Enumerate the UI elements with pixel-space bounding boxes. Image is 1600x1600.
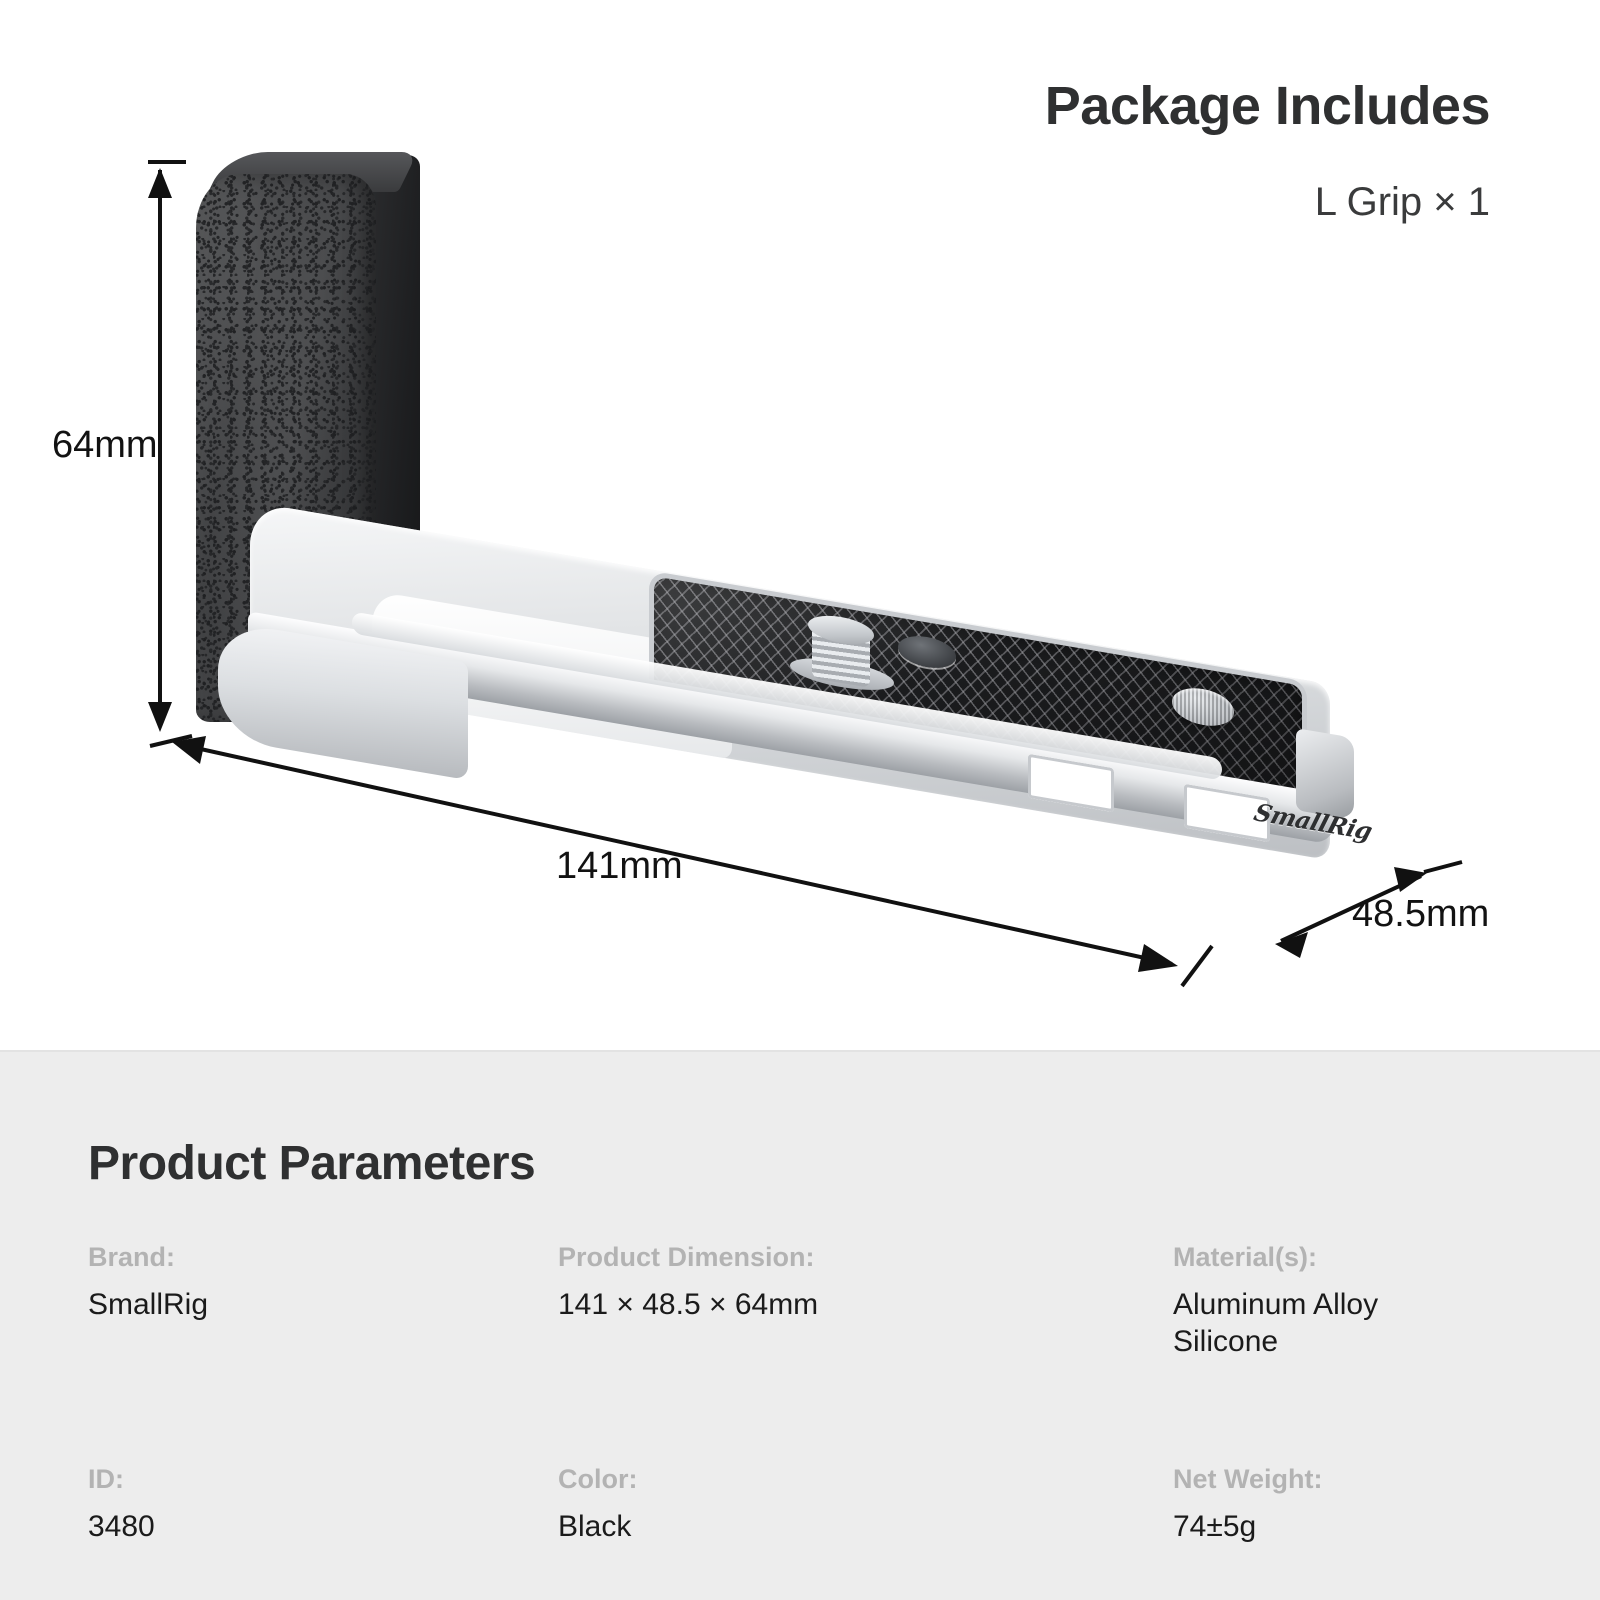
param-net-weight-key: Net Weight: xyxy=(1173,1464,1518,1495)
param-materials-value: Aluminum Alloy Silicone xyxy=(1173,1287,1518,1360)
param-id-value: 3480 xyxy=(88,1509,558,1546)
param-product-dimension-value: 141 × 48.5 × 64mm xyxy=(558,1287,1173,1324)
dimension-label-width: 48.5mm xyxy=(1352,893,1489,936)
parameters-row: ID: 3480 Color: Black Net Weight: 74±5g xyxy=(88,1464,1518,1546)
dimension-label-length: 141mm xyxy=(556,845,683,888)
param-brand-key: Brand: xyxy=(88,1242,558,1273)
param-id: ID: 3480 xyxy=(88,1464,558,1546)
dim-tick-length-end xyxy=(1182,946,1212,986)
param-product-dimension: Product Dimension: 141 × 48.5 × 64mm xyxy=(558,1242,1173,1360)
param-net-weight-value: 74±5g xyxy=(1173,1509,1518,1546)
dimension-label-height: 64mm xyxy=(52,424,158,467)
product-parameters-section: Product Parameters Brand: SmallRig Produ… xyxy=(0,1050,1600,1600)
param-color-key: Color: xyxy=(558,1464,1173,1495)
dim-arrow-down xyxy=(148,702,172,732)
param-net-weight: Net Weight: 74±5g xyxy=(1173,1464,1518,1546)
dim-arrow-up xyxy=(148,168,172,198)
product-image: SmallRig 64mm 141mm 48.5mm xyxy=(0,0,1600,1050)
param-product-dimension-key: Product Dimension: xyxy=(558,1242,1173,1273)
param-color: Color: Black xyxy=(558,1464,1173,1546)
product-parameters-title: Product Parameters xyxy=(88,1136,535,1191)
parameters-grid: Brand: SmallRig Product Dimension: 141 ×… xyxy=(88,1242,1518,1546)
param-id-key: ID: xyxy=(88,1464,558,1495)
dim-tick-width-end xyxy=(1424,862,1462,872)
param-color-value: Black xyxy=(558,1509,1173,1546)
package-includes-section: Package Includes L Grip × 1 xyxy=(0,0,1600,1050)
parameters-row: Brand: SmallRig Product Dimension: 141 ×… xyxy=(88,1242,1518,1360)
param-brand-value: SmallRig xyxy=(88,1287,558,1324)
param-materials: Material(s): Aluminum Alloy Silicone xyxy=(1173,1242,1518,1360)
dim-arrow-length-right xyxy=(1138,944,1178,972)
param-brand: Brand: SmallRig xyxy=(88,1242,558,1360)
param-materials-key: Material(s): xyxy=(1173,1242,1518,1273)
